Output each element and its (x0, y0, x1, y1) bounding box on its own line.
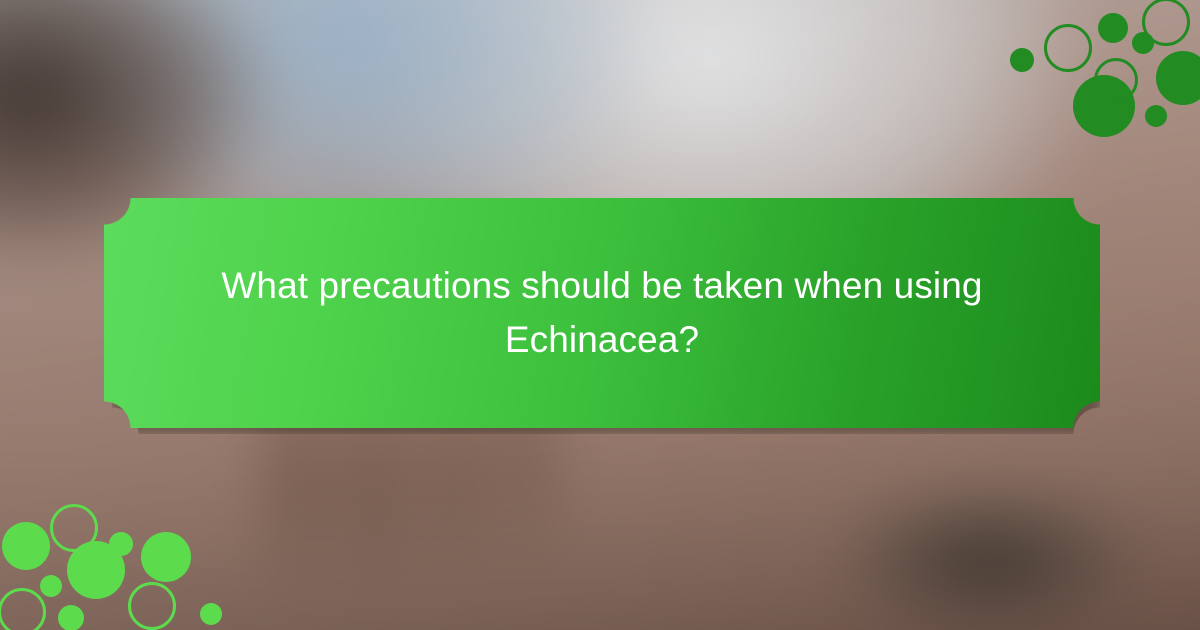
question-title: What precautions should be taken when us… (172, 259, 1032, 366)
banner-surface: What precautions should be taken when us… (104, 198, 1100, 428)
social-card-canvas: What precautions should be taken when us… (0, 0, 1200, 630)
question-banner: What precautions should be taken when us… (104, 198, 1100, 428)
